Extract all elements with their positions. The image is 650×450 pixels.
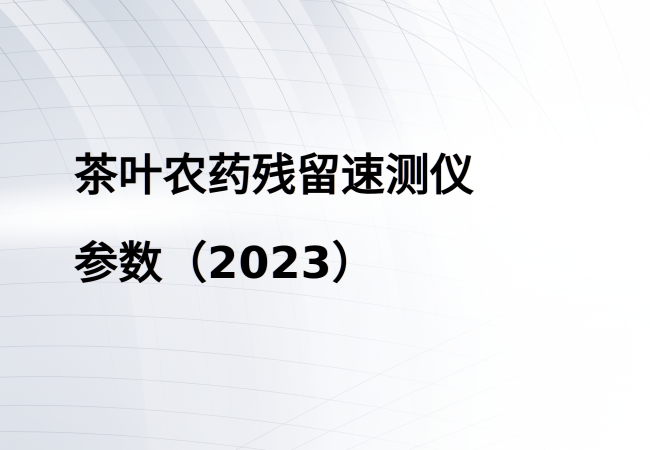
page-title: 茶叶农药残留速测仪 参数（2023） xyxy=(74,132,594,308)
title-banner: 茶叶农药残留速测仪 参数（2023） xyxy=(0,0,650,450)
title-line-secondary: 参数（2023） xyxy=(74,220,594,308)
title-line-primary: 茶叶农药残留速测仪 xyxy=(74,132,594,220)
